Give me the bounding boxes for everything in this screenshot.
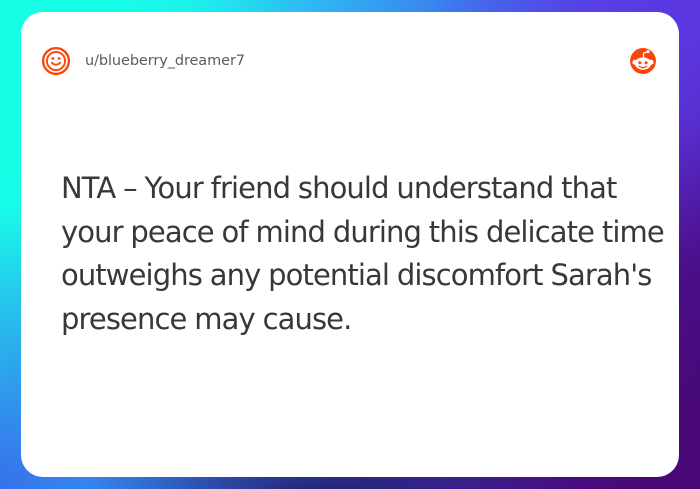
reddit-snoo-icon <box>627 45 659 77</box>
screenshot-stage: u/blueberry_dreamer7 NTA – Your friend s… <box>0 0 700 489</box>
post-body-text: NTA – Your friend should understand that… <box>61 167 681 341</box>
smiley-face-icon <box>41 46 71 76</box>
post-header: u/blueberry_dreamer7 <box>41 39 659 83</box>
reddit-post-card: u/blueberry_dreamer7 NTA – Your friend s… <box>21 12 679 477</box>
username-label: u/blueberry_dreamer7 <box>85 53 245 69</box>
